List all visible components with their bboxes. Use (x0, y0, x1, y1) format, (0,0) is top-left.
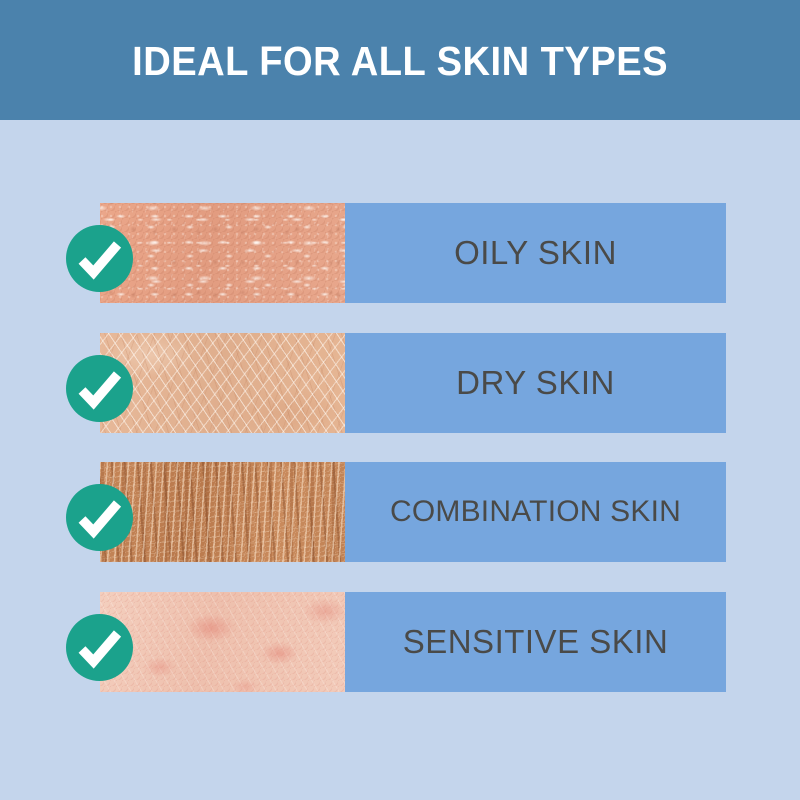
skin-type-label: DRY SKIN (456, 366, 615, 399)
sensitive-skin-photo (100, 592, 345, 692)
check-icon[interactable] (66, 614, 133, 681)
skin-type-label: SENSITIVE SKIN (403, 625, 669, 658)
label-bar: DRY SKIN (345, 333, 726, 433)
skin-type-label: COMBINATION SKIN (390, 497, 681, 527)
list-item[interactable]: SENSITIVE SKIN (100, 592, 726, 692)
label-bar: OILY SKIN (345, 203, 726, 303)
label-bar: COMBINATION SKIN (345, 462, 726, 562)
check-icon[interactable] (66, 225, 133, 292)
list-item[interactable]: COMBINATION SKIN (100, 462, 726, 562)
oily-skin-photo (100, 203, 345, 303)
skin-types-infographic: IDEAL FOR ALL SKIN TYPES OILY SKIN DRY S (0, 0, 800, 800)
list-item[interactable]: OILY SKIN (100, 203, 726, 303)
header-banner: IDEAL FOR ALL SKIN TYPES (0, 0, 800, 120)
combination-skin-photo (100, 462, 345, 562)
list-item[interactable]: DRY SKIN (100, 333, 726, 433)
skin-type-list: OILY SKIN DRY SKIN (0, 120, 800, 800)
label-bar: SENSITIVE SKIN (345, 592, 726, 692)
check-icon[interactable] (66, 484, 133, 551)
check-icon[interactable] (66, 355, 133, 422)
skin-type-label: OILY SKIN (454, 236, 617, 269)
dry-skin-photo (100, 333, 345, 433)
page-title: IDEAL FOR ALL SKIN TYPES (132, 41, 668, 82)
